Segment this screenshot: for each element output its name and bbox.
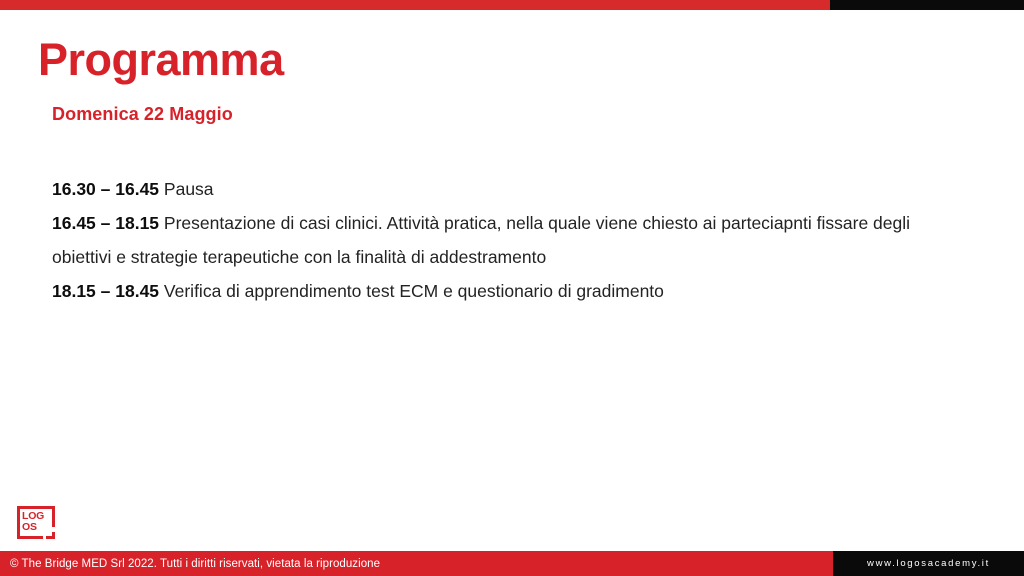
footer-bar: © The Bridge MED Srl 2022. Tutti i dirit…	[0, 551, 1024, 576]
agenda-list: 16.30 – 16.45 Pausa 16.45 – 18.15 Presen…	[52, 172, 942, 308]
footer-website-text: www.logosacademy.it	[867, 558, 990, 569]
top-accent-bar-black-segment	[830, 0, 1024, 10]
top-accent-bar	[0, 0, 1024, 10]
logo-wordmark-line-2: OS	[22, 522, 44, 533]
agenda-item-time: 16.45 – 18.15	[52, 213, 159, 233]
agenda-item-time: 18.15 – 18.45	[52, 281, 159, 301]
agenda-item: 16.45 – 18.15 Presentazione di casi clin…	[52, 206, 942, 274]
footer-copyright-section: © The Bridge MED Srl 2022. Tutti i dirit…	[0, 551, 833, 576]
page-title: Programma	[38, 36, 284, 83]
logo-wordmark: LOG OS	[22, 511, 44, 533]
footer-website-section: www.logosacademy.it	[833, 551, 1024, 576]
agenda-item-time: 16.30 – 16.45	[52, 179, 159, 199]
top-accent-bar-red-segment	[0, 0, 830, 10]
agenda-item-description: Verifica di apprendimento test ECM e que…	[159, 281, 664, 301]
logos-logo: LOG OS	[17, 506, 55, 539]
agenda-item-description: Presentazione di casi clinici. Attività …	[52, 213, 910, 267]
footer-copyright-text: © The Bridge MED Srl 2022. Tutti i dirit…	[10, 558, 380, 570]
agenda-item: 16.30 – 16.45 Pausa	[52, 172, 942, 206]
slide: Programma Domenica 22 Maggio 16.30 – 16.…	[0, 0, 1024, 576]
agenda-item: 18.15 – 18.45 Verifica di apprendimento …	[52, 274, 942, 308]
page-subtitle: Domenica 22 Maggio	[52, 104, 233, 125]
agenda-item-description: Pausa	[159, 179, 213, 199]
